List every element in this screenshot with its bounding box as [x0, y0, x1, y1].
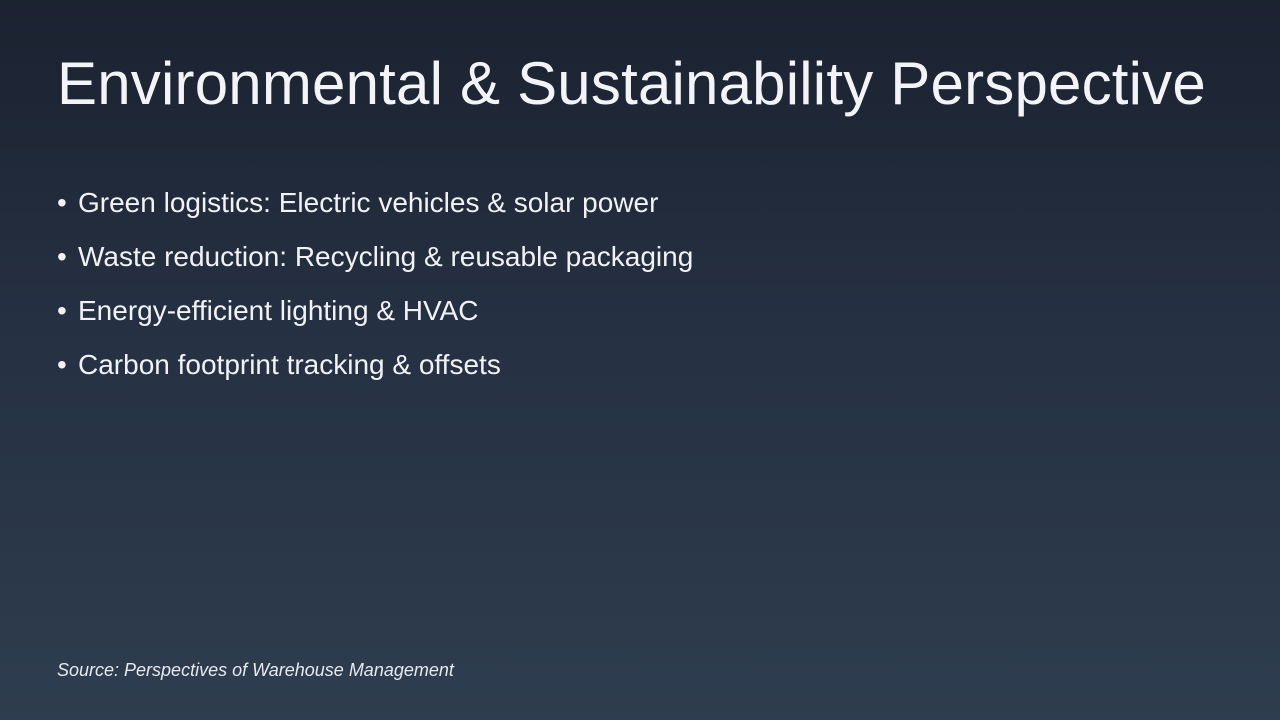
- title-block: Environmental & Sustainability Perspecti…: [57, 52, 1227, 117]
- bullet-list: • Green logistics: Electric vehicles & s…: [57, 186, 1157, 402]
- list-item-label: Waste reduction: Recycling & reusable pa…: [78, 240, 693, 274]
- list-item: • Waste reduction: Recycling & reusable …: [57, 240, 1157, 294]
- list-item: • Carbon footprint tracking & offsets: [57, 348, 1157, 402]
- bullet-point-icon: •: [57, 348, 78, 382]
- list-item-label: Carbon footprint tracking & offsets: [78, 348, 501, 382]
- list-item-label: Green logistics: Electric vehicles & sol…: [78, 186, 658, 220]
- source-citation: Source: Perspectives of Warehouse Manage…: [57, 658, 454, 682]
- list-item: • Green logistics: Electric vehicles & s…: [57, 186, 1157, 240]
- page-title: Environmental & Sustainability Perspecti…: [57, 52, 1227, 117]
- list-item: • Energy-efficient lighting & HVAC: [57, 294, 1157, 348]
- list-item-label: Energy-efficient lighting & HVAC: [78, 294, 479, 328]
- bullet-point-icon: •: [57, 240, 78, 274]
- bullet-point-icon: •: [57, 294, 78, 328]
- presentation-slide: Environmental & Sustainability Perspecti…: [0, 0, 1280, 720]
- bullet-point-icon: •: [57, 186, 78, 220]
